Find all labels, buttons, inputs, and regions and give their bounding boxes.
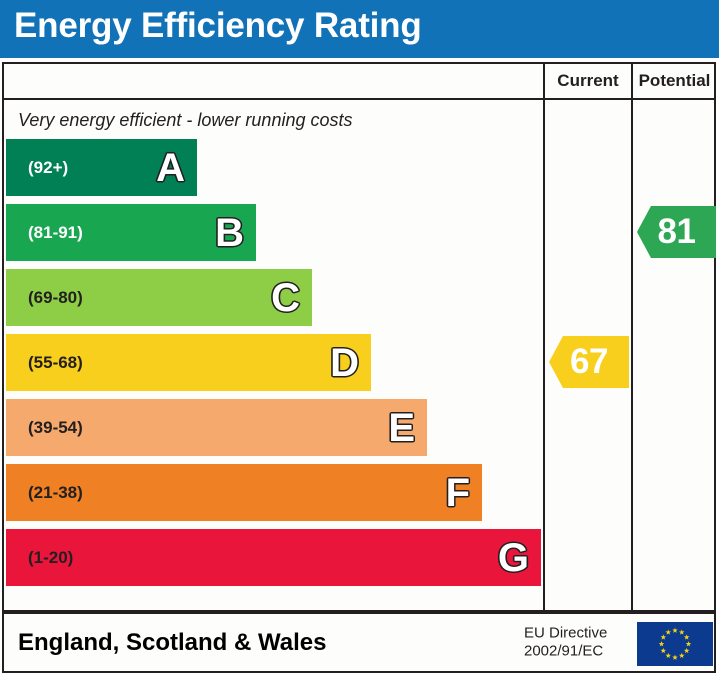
footer-directive: EU Directive 2002/91/EC [524,624,607,662]
footer-directive-line1: EU Directive [524,624,607,643]
band-letter-f: F [446,473,470,513]
band-bar-f: (21-38)F [6,464,482,521]
band-bar-e: (39-54)E [6,399,427,456]
band-range-c: (69-80) [28,288,83,308]
rating-table: Current Potential Very energy efficient … [2,62,716,612]
chart-title-bar: Energy Efficiency Rating [0,0,719,58]
band-range-b: (81-91) [28,223,83,243]
eu-flag-icon [637,622,713,666]
band-bar-b: (81-91)B [6,204,256,261]
chart-footer: England, Scotland & Wales EU Directive 2… [2,612,716,673]
band-range-d: (55-68) [28,353,83,373]
band-range-e: (39-54) [28,418,83,438]
footer-region-label: England, Scotland & Wales [18,629,326,657]
band-bar-d: (55-68)D [6,334,371,391]
column-header-current: Current [543,64,631,98]
band-range-a: (92+) [28,158,68,178]
column-divider-potential [631,100,633,612]
band-letter-d: D [330,343,359,383]
band-range-f: (21-38) [28,483,83,503]
table-header-row: Current Potential [4,64,714,100]
band-bar-g: (1-20)G [6,529,541,586]
footer-directive-line2: 2002/91/EC [524,643,607,662]
page-title: Energy Efficiency Rating [14,6,422,46]
bands-panel: Very energy efficient - lower running co… [4,100,543,612]
band-letter-c: C [271,278,300,318]
current-rating-badge: 67 [549,336,629,388]
caption-top: Very energy efficient - lower running co… [18,110,353,131]
column-divider-current [543,100,545,612]
column-header-potential: Potential [631,64,716,98]
band-letter-a: A [156,148,185,188]
band-letter-g: G [498,538,529,578]
potential-rating-badge: 81 [637,206,716,258]
band-range-g: (1-20) [28,548,73,568]
energy-efficiency-rating-chart: Energy Efficiency Rating Current Potenti… [0,0,719,675]
band-letter-b: B [215,213,244,253]
band-bar-c: (69-80)C [6,269,312,326]
band-letter-e: E [388,408,415,448]
band-bar-a: (92+)A [6,139,197,196]
